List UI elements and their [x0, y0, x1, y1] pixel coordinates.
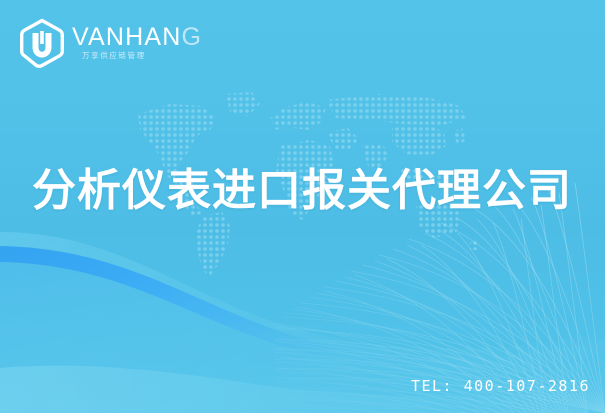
wordmark-accent: G [182, 23, 203, 51]
contact-telephone: TEL: 400-107-2816 [411, 377, 590, 395]
brand-logo[interactable]: VANHANG 万享供应链管理 [18, 18, 202, 68]
promo-banner: VANHANG 万享供应链管理 分析仪表进口报关代理公司 TEL: 400-10… [0, 0, 605, 413]
brand-wordmark: VANHANG 万享供应链管理 [72, 23, 202, 63]
wordmark-subtitle: 万享供应链管理 [82, 52, 202, 60]
wordmark-main: VANHAN [72, 23, 182, 51]
page-title: 分析仪表进口报关代理公司 [32, 167, 572, 215]
wordmark-text: VANHANG [72, 23, 202, 50]
vanhang-hexagon-mark [18, 18, 66, 68]
